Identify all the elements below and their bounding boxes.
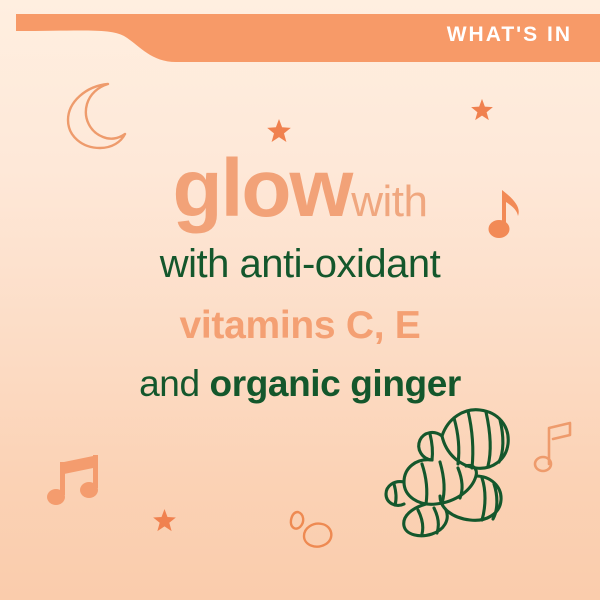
headline-line-1: glowwith [0, 148, 600, 230]
ginger-root-icon [382, 392, 522, 537]
headline-line-3: vitamins C, E [0, 306, 600, 345]
headline-block: glowwith with anti-oxidant vitamins C, E… [0, 148, 600, 402]
headline-line-2: with anti-oxidant [0, 244, 600, 284]
petal-squiggles-icon [288, 508, 342, 558]
headline-organic-ginger-word: organic ginger [210, 363, 461, 404]
star-bottom-left-icon [152, 508, 177, 533]
star-top-right-icon [470, 98, 494, 122]
star-top-mid-icon [266, 118, 292, 144]
promo-poster: WHAT'S IN glowwith with anti-oxidant vit… [0, 0, 600, 600]
headline-line-4: and organic ginger [0, 365, 600, 402]
music-note-outline-icon [534, 420, 578, 474]
ribbon-label: WHAT'S IN [447, 24, 572, 45]
headline-with-word: with [351, 177, 427, 226]
headline-glow-word: glow [173, 143, 352, 234]
moon-icon [62, 80, 128, 152]
headline-and-word: and [139, 363, 209, 404]
music-note-beamed-icon [48, 452, 104, 510]
